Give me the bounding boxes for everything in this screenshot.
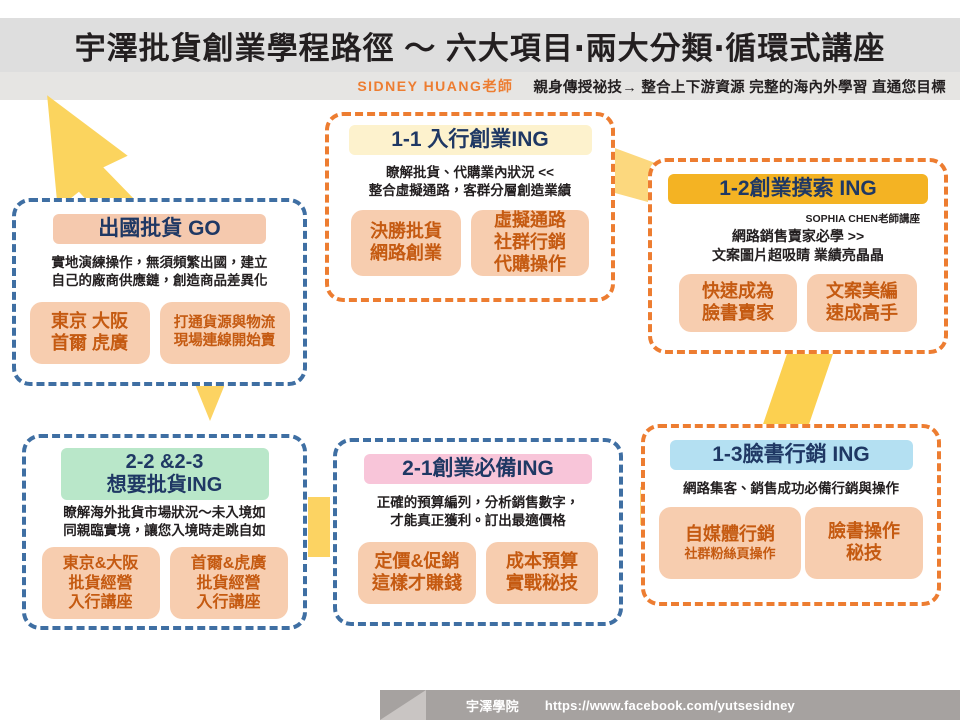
arrow-band-21-to-22 xyxy=(308,497,330,557)
chip-line: 東京&大阪 xyxy=(63,554,139,574)
chip-line: 入行講座 xyxy=(68,593,132,613)
chip-line: 文案美編 xyxy=(826,281,898,303)
card-title-1-1: 1-1 入行創業ING xyxy=(349,125,592,155)
card-desc-1-3: 網路集客、銷售成功必備行銷與操作 xyxy=(645,480,937,498)
card-go-abroad[interactable]: 出國批貨 GO 實地演練操作，無須頻繁出國，建立 自己的廠商供應鏈，創造商品差異… xyxy=(12,198,307,386)
card-title-line: 2-2 &2-3 xyxy=(75,451,255,474)
chip-tokyo-osaka-course[interactable]: 東京&大阪 批貨經營 入行講座 xyxy=(42,547,160,619)
arrow-band-12-to-13 xyxy=(760,345,836,433)
desc-line: 文案圖片超吸睛 業績亮晶晶 xyxy=(652,246,944,265)
chip-line: 代購操作 xyxy=(494,254,566,276)
footer-brand: 宇澤學院 xyxy=(466,696,519,715)
desc-line: 正確的預算編列，分析銷售數字， xyxy=(337,494,619,512)
header-tagline: 親身傳授祕技→ 整合上下游資源 完整的海內外學習 直通您目標 xyxy=(533,76,946,97)
footer-content: 宇澤學院 https://www.facebook.com/yutsesidne… xyxy=(380,690,960,720)
chip-line: 現場連線開始賣 xyxy=(174,333,276,351)
card-1-3[interactable]: 1-3臉書行銷 ING 網路集客、銷售成功必備行銷與操作 自媒體行銷 社群粉絲頁… xyxy=(641,424,941,606)
card-title-2-1: 2-1創業必備ING xyxy=(364,454,592,484)
chip-line: 臉書操作 xyxy=(828,521,900,543)
chip-line: 快速成為 xyxy=(702,281,774,303)
chip-line: 臉書賣家 xyxy=(702,303,774,325)
poster-canvas: 宇澤批貨創業學程路徑 ～ 六大項目‧兩大分類‧循環式講座 SIDNEY HUAN… xyxy=(0,0,960,720)
chip-supply-logistics[interactable]: 打通貨源與物流 現場連線開始賣 xyxy=(160,302,290,364)
chip-row-1-1: 決勝批貨 網路創業 虛擬通路 社群行銷 代購操作 xyxy=(329,210,611,276)
card-desc-1-1: 瞭解批貨、代購業內狀況 << 整合虛擬通路，客群分層創造業績 xyxy=(329,164,611,200)
chip-pricing-promo[interactable]: 定價&促銷 這樣才賺錢 xyxy=(358,542,476,604)
chip-line: 首爾 虎廣 xyxy=(51,333,128,355)
chip-row-go-abroad: 東京 大阪 首爾 虎廣 打通貨源與物流 現場連線開始賣 xyxy=(16,302,303,364)
chip-row-2-2: 東京&大阪 批貨經營 入行講座 首爾&虎廣 批貨經營 入行講座 xyxy=(26,547,303,619)
card-1-2[interactable]: 1-2創業摸索 ING SOPHIA CHEN老師講座 網路銷售賣家必學 >> … xyxy=(648,158,948,354)
chip-copywriting-design[interactable]: 文案美編 速成高手 xyxy=(807,274,917,332)
instructor-name: SIDNEY HUANG老師 xyxy=(357,76,513,96)
card-2-1[interactable]: 2-1創業必備ING 正確的預算編列，分析銷售數字， 才能真正獲利。訂出最適價格… xyxy=(333,438,623,626)
chip-line: 自媒體行銷 xyxy=(685,524,775,546)
card-desc-go-abroad: 實地演練操作，無須頻繁出國，建立 自己的廠商供應鏈，創造商品差異化 xyxy=(16,254,303,290)
desc-line: 瞭解批貨、代購業內狀況 << xyxy=(329,164,611,182)
chip-wholesale-startup[interactable]: 決勝批貨 網路創業 xyxy=(351,210,461,276)
card-title-line: 想要批貨ING xyxy=(75,474,255,497)
chip-line: 打通貨源與物流 xyxy=(174,315,276,333)
footer: 宇澤學院 https://www.facebook.com/yutsesidne… xyxy=(0,690,960,720)
chip-become-fb-seller[interactable]: 快速成為 臉書賣家 xyxy=(679,274,797,332)
chip-tokyo-osaka[interactable]: 東京 大阪 首爾 虎廣 xyxy=(30,302,150,364)
chip-seoul-huguang-course[interactable]: 首爾&虎廣 批貨經營 入行講座 xyxy=(170,547,288,619)
desc-line: 瞭解海外批貨市場狀況～未入境如 xyxy=(26,504,303,522)
chip-row-1-2: 快速成為 臉書賣家 文案美編 速成高手 xyxy=(652,274,944,332)
chip-line: 速成高手 xyxy=(826,303,898,325)
card-title-2-2: 2-2 &2-3 想要批貨ING xyxy=(61,448,269,500)
chip-line: 定價&促銷 xyxy=(375,551,460,573)
chip-line: 首爾&虎廣 xyxy=(191,554,267,574)
chip-line: 批貨經營 xyxy=(68,574,132,594)
chip-line: 社群行銷 xyxy=(494,232,566,254)
desc-line: 整合虛擬通路，客群分層創造業績 xyxy=(329,182,611,200)
chip-line: 社群粉絲頁操作 xyxy=(684,546,775,562)
chip-cost-budget[interactable]: 成本預算 實戰秘技 xyxy=(486,542,598,604)
page-title: 宇澤批貨創業學程路徑 ～ 六大項目‧兩大分類‧循環式講座 xyxy=(0,18,960,72)
chip-row-2-1: 定價&促銷 這樣才賺錢 成本預算 實戰秘技 xyxy=(337,542,619,604)
desc-line: 網路銷售賣家必學 >> xyxy=(652,227,944,246)
desc-line: 自己的廠商供應鏈，創造商品差異化 xyxy=(16,272,303,290)
chip-line: 批貨經營 xyxy=(196,574,260,594)
card-desc-1-2: 網路銷售賣家必學 >> 文案圖片超吸睛 業績亮晶晶 xyxy=(652,227,944,265)
desc-line: 實地演練操作，無須頻繁出國，建立 xyxy=(16,254,303,272)
chip-line: 東京 大阪 xyxy=(51,311,128,333)
chip-line: 網路創業 xyxy=(370,243,442,265)
chip-self-media-marketing[interactable]: 自媒體行銷 社群粉絲頁操作 xyxy=(659,507,801,579)
card-title-1-2: 1-2創業摸索 ING xyxy=(668,174,928,204)
card-title-1-3: 1-3臉書行銷 ING xyxy=(670,440,913,470)
card-2-2[interactable]: 2-2 &2-3 想要批貨ING 瞭解海外批貨市場狀況～未入境如 同親臨實境，讓… xyxy=(22,434,307,630)
card-desc-2-1: 正確的預算編列，分析銷售數字， 才能真正獲利。訂出最適價格 xyxy=(337,494,619,530)
chip-line: 這樣才賺錢 xyxy=(372,573,462,595)
chip-row-1-3: 自媒體行銷 社群粉絲頁操作 臉書操作 秘技 xyxy=(645,507,937,579)
chip-fb-operation[interactable]: 臉書操作 秘技 xyxy=(805,507,923,579)
chip-line: 決勝批貨 xyxy=(370,221,442,243)
chip-line: 實戰秘技 xyxy=(506,573,578,595)
card-byline-1-2: SOPHIA CHEN老師講座 xyxy=(652,211,944,226)
desc-line: 網路集客、銷售成功必備行銷與操作 xyxy=(645,480,937,498)
chip-line: 秘技 xyxy=(846,543,882,565)
card-title-go-abroad: 出國批貨 GO xyxy=(53,214,266,244)
desc-line: 才能真正獲利。訂出最適價格 xyxy=(337,512,619,530)
chip-line: 入行講座 xyxy=(196,593,260,613)
chip-line: 成本預算 xyxy=(506,551,578,573)
card-1-1[interactable]: 1-1 入行創業ING 瞭解批貨、代購業內狀況 << 整合虛擬通路，客群分層創造… xyxy=(325,112,615,302)
footer-url[interactable]: https://www.facebook.com/yutsesidney xyxy=(545,698,795,713)
chip-virtual-channel[interactable]: 虛擬通路 社群行銷 代購操作 xyxy=(471,210,589,276)
desc-line: 同親臨實境，讓您入境時走跳自如 xyxy=(26,522,303,540)
card-desc-2-2: 瞭解海外批貨市場狀況～未入境如 同親臨實境，讓您入境時走跳自如 xyxy=(26,504,303,540)
chip-line: 虛擬通路 xyxy=(494,210,566,232)
